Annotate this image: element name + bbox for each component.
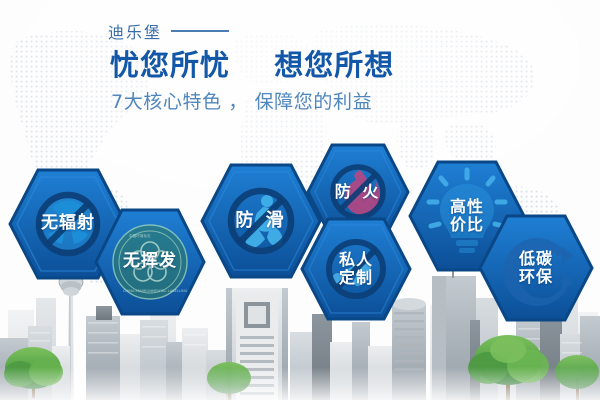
svg-text:中国环境标志: 中国环境标志: [129, 233, 151, 238]
no-radiation-icon: [39, 195, 97, 253]
svg-text:CHINA ENVIRONMENTAL LABELLING: CHINA ENVIRONMENTAL LABELLING: [123, 289, 188, 293]
feature-hex-low-carbon-eco[interactable]: 低碳 环保: [478, 214, 594, 322]
green-environment-emblem-icon: 中国环境标志 CHINA ENVIRONMENTAL LABELLING: [113, 225, 188, 299]
feature-hex-no-volatile[interactable]: 中国环境标志 CHINA ENVIRONMENTAL LABELLING 无挥发: [94, 208, 206, 316]
feature-hexagon-group: 无辐射: [0, 0, 600, 400]
banner-stage: 迪乐堡 忧您所忧 想您所想 7大核心特色 ， 保障您的利益: [0, 0, 600, 400]
feature-hex-private-custom[interactable]: 私人 定制: [300, 217, 412, 321]
